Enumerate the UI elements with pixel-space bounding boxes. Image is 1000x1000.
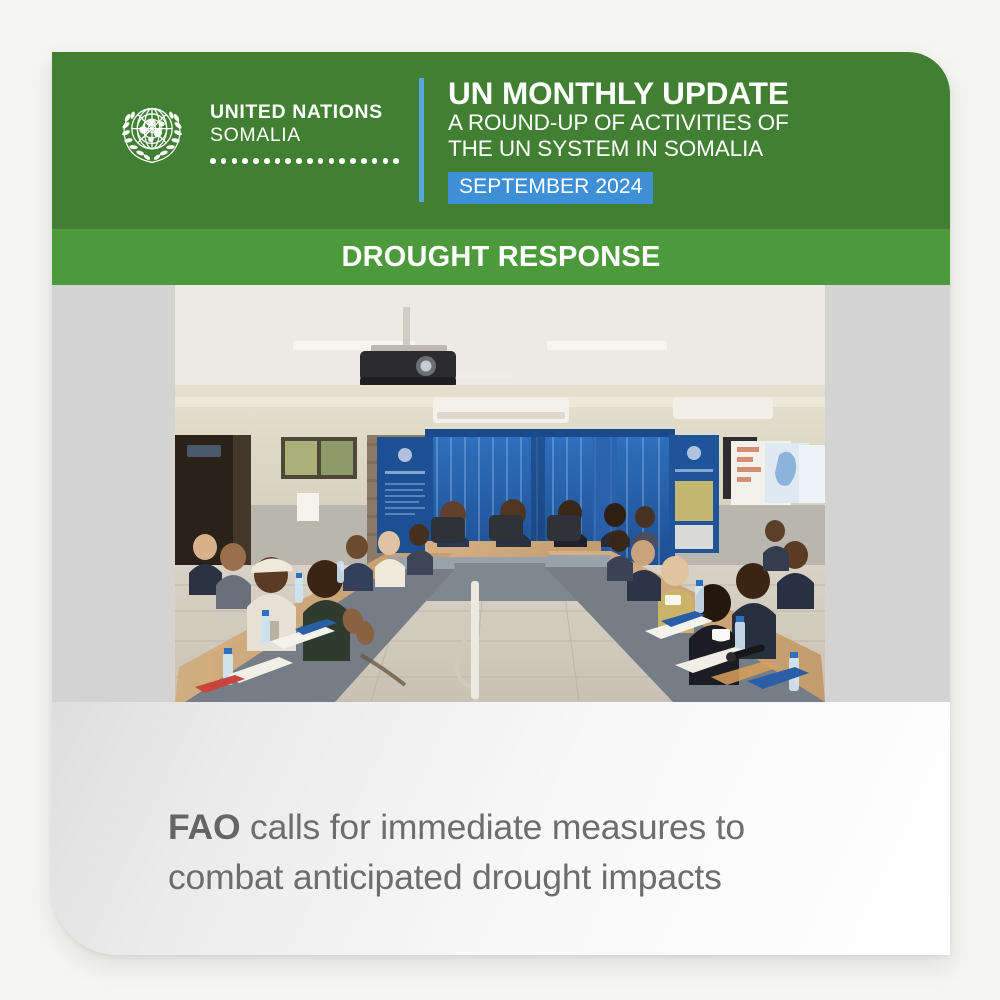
rule-dot xyxy=(264,158,270,164)
headline-rest: calls for immediate measures to combat a… xyxy=(168,807,745,897)
rule-dot xyxy=(307,158,313,164)
section-banner: DROUGHT RESPONSE xyxy=(52,229,950,285)
publication-subtitle-line-1: A ROUND-UP OF ACTIVITIES OF xyxy=(448,110,878,136)
issue-date-badge: SEPTEMBER 2024 xyxy=(448,172,653,204)
rule-dot xyxy=(275,158,281,164)
article-photo xyxy=(175,285,825,702)
org-name: UNITED NATIONS xyxy=(210,102,399,124)
rule-dot xyxy=(232,158,238,164)
rule-dot xyxy=(361,158,367,164)
rule-dot xyxy=(318,158,324,164)
section-title: DROUGHT RESPONSE xyxy=(341,241,660,274)
rule-dot xyxy=(339,158,345,164)
un-somalia-logo: UNITED NATIONS SOMALIA xyxy=(110,90,399,174)
rule-dot xyxy=(221,158,227,164)
rule-dot xyxy=(210,158,216,164)
org-country: SOMALIA xyxy=(210,124,399,147)
publication-subtitle-line-2: THE UN SYSTEM IN SOMALIA xyxy=(448,136,878,162)
rule-dot xyxy=(253,158,259,164)
headline-area: FAO calls for immediate measures to comb… xyxy=(52,702,950,955)
poster-canvas: UNITED NATIONS SOMALIA UN MONTHLY UPDATE… xyxy=(0,0,1000,1000)
article-headline: FAO calls for immediate measures to comb… xyxy=(168,802,808,903)
rule-dot xyxy=(350,158,356,164)
un-emblem-icon xyxy=(110,90,194,174)
newsletter-card: UNITED NATIONS SOMALIA UN MONTHLY UPDATE… xyxy=(52,52,950,955)
rule-dot xyxy=(329,158,335,164)
headline-lead: FAO xyxy=(168,807,240,847)
logo-wordmark: UNITED NATIONS SOMALIA xyxy=(210,100,399,163)
header-title-block: UN MONTHLY UPDATE A ROUND-UP OF ACTIVITI… xyxy=(448,76,878,204)
publication-title: UN MONTHLY UPDATE xyxy=(448,76,878,110)
rule-dot xyxy=(296,158,302,164)
dotted-rule-decoration xyxy=(210,158,399,164)
rule-dot xyxy=(383,158,389,164)
rule-dot xyxy=(393,158,399,164)
photo-strip xyxy=(52,285,950,702)
rule-dot xyxy=(372,158,378,164)
rule-dot xyxy=(285,158,291,164)
header-vertical-divider xyxy=(419,78,424,202)
card-header: UNITED NATIONS SOMALIA UN MONTHLY UPDATE… xyxy=(52,52,950,229)
rule-dot xyxy=(242,158,248,164)
